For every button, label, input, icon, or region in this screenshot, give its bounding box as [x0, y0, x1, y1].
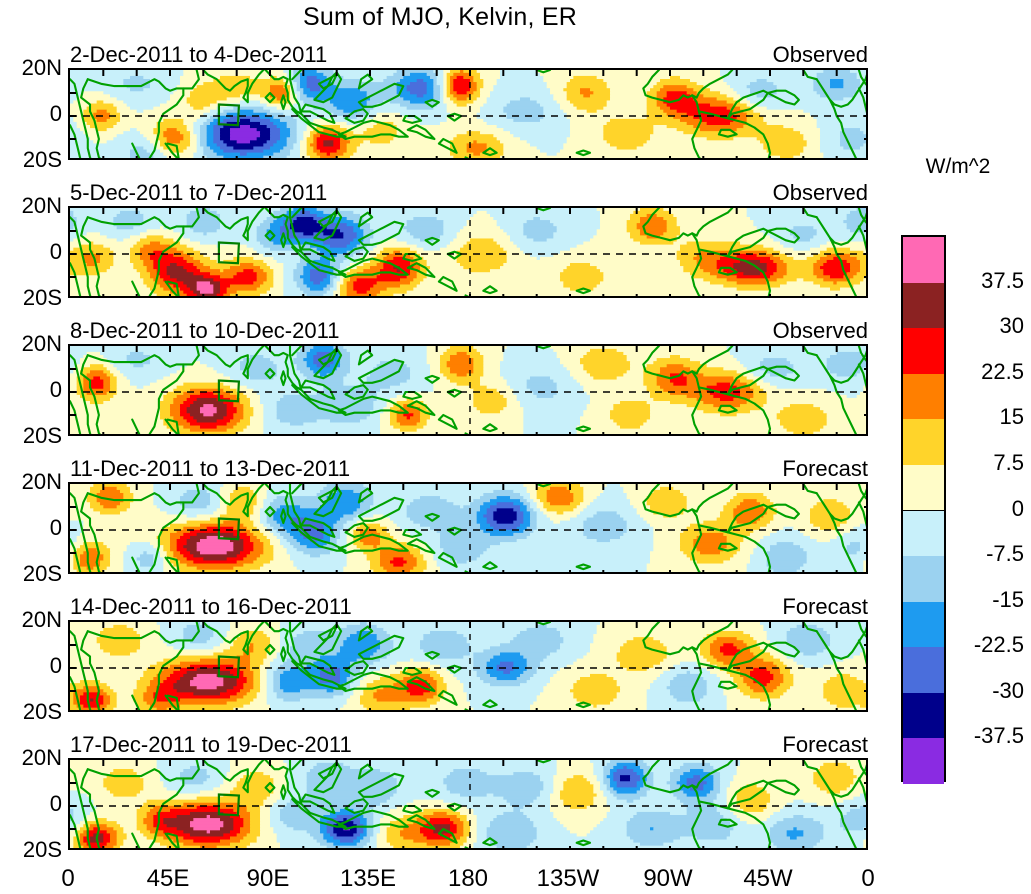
map-canvas-1 [68, 68, 868, 160]
colorbar-band-3 [903, 374, 944, 421]
x-tick-label: 135W [518, 864, 618, 894]
y-tick-label: 20S [23, 839, 62, 861]
x-tick-label: 0 [18, 864, 118, 894]
y-tick-label: 20S [23, 425, 62, 447]
panel-header-4: 11-Dec-2011 to 13-Dec-2011Forecast [68, 456, 868, 482]
x-tick-label: 45E [118, 864, 218, 894]
colorbar-band-9 [903, 647, 944, 694]
y-axis-labels-5: 20N020S [0, 620, 62, 712]
panel-header-1: 2-Dec-2011 to 4-Dec-2011Observed [68, 42, 868, 68]
x-tick-label: 180 [418, 864, 518, 894]
colorbar-tick-label: -37.5 [952, 725, 1024, 747]
anomaly-field [70, 760, 868, 850]
colorbar-units-label: W/m^2 [898, 155, 1018, 179]
colorbar-band-11 [903, 738, 944, 784]
colorbar-band-2 [903, 328, 944, 375]
colorbar-band-1 [903, 283, 944, 330]
panel-status-label: Observed [773, 42, 868, 68]
panel-status-label: Forecast [782, 594, 868, 620]
panel-header-5: 14-Dec-2011 to 16-Dec-2011Forecast [68, 594, 868, 620]
x-tick-label: 90W [618, 864, 718, 894]
panel-date-range: 5-Dec-2011 to 7-Dec-2011 [70, 180, 327, 206]
y-tick-label: 20N [22, 333, 62, 355]
colorbar-tick-label: -22.5 [952, 634, 1024, 656]
anomaly-field [70, 484, 868, 574]
panel-date-range: 11-Dec-2011 to 13-Dec-2011 [70, 456, 350, 482]
anomaly-field [70, 208, 868, 298]
y-axis-labels-3: 20N020S [0, 344, 62, 436]
y-axis-labels-4: 20N020S [0, 482, 62, 574]
y-tick-label: 20S [23, 149, 62, 171]
map-canvas-6 [68, 758, 868, 850]
y-tick-label: 20S [23, 287, 62, 309]
x-axis-labels: 045E90E135E180135W90W45W0 [0, 864, 1031, 894]
colorbar-tick-label: 7.5 [952, 452, 1024, 474]
y-tick-label: 20N [22, 471, 62, 493]
panel-header-6: 17-Dec-2011 to 19-Dec-2011Forecast [68, 732, 868, 758]
colorbar-tick-label: 22.5 [952, 361, 1024, 383]
x-tick-label: 0 [818, 864, 918, 894]
y-tick-label: 0 [50, 379, 62, 401]
panel-date-range: 14-Dec-2011 to 16-Dec-2011 [70, 594, 352, 620]
y-axis-labels-6: 20N020S [0, 758, 62, 850]
map-canvas-3 [68, 344, 868, 436]
y-tick-label: 20N [22, 57, 62, 79]
colorbar-tick-label: 30 [952, 315, 1024, 337]
panel-status-label: Observed [773, 180, 868, 206]
y-tick-label: 0 [50, 241, 62, 263]
panel-header-2: 5-Dec-2011 to 7-Dec-2011Observed [68, 180, 868, 206]
y-tick-label: 20N [22, 195, 62, 217]
y-tick-label: 0 [50, 517, 62, 539]
colorbar-tick-label: 15 [952, 406, 1024, 428]
page-title: Sum of MJO, Kelvin, ER [0, 2, 880, 32]
anomaly-field [70, 70, 868, 160]
panel-status-label: Observed [773, 318, 868, 344]
y-tick-label: 0 [50, 103, 62, 125]
y-tick-label: 0 [50, 655, 62, 677]
panel-date-range: 8-Dec-2011 to 10-Dec-2011 [70, 318, 339, 344]
y-tick-label: 20S [23, 701, 62, 723]
colorbar-band-10 [903, 693, 944, 740]
anomaly-field [70, 622, 868, 712]
colorbar-tick-label: -30 [952, 680, 1024, 702]
map-canvas-2 [68, 206, 868, 298]
y-axis-labels-2: 20N020S [0, 206, 62, 298]
colorbar-band-6 [903, 511, 944, 558]
anomaly-field [70, 346, 868, 436]
figure-root: Sum of MJO, Kelvin, ER 2-Dec-2011 to 4-D… [0, 0, 1031, 889]
colorbar-tick-label: -15 [952, 589, 1024, 611]
map-canvas-4 [68, 482, 868, 574]
colorbar [901, 235, 946, 782]
colorbar-band-4 [903, 419, 944, 466]
panel-status-label: Forecast [782, 456, 868, 482]
colorbar-band-0 [903, 237, 944, 284]
panel-header-3: 8-Dec-2011 to 10-Dec-2011Observed [68, 318, 868, 344]
x-tick-label: 135E [318, 864, 418, 894]
x-tick-label: 45W [718, 864, 818, 894]
colorbar-band-5 [903, 465, 944, 512]
y-tick-label: 20S [23, 563, 62, 585]
colorbar-band-8 [903, 602, 944, 649]
panel-date-range: 17-Dec-2011 to 19-Dec-2011 [70, 732, 352, 758]
map-canvas-5 [68, 620, 868, 712]
y-tick-label: 20N [22, 609, 62, 631]
colorbar-tick-label: -7.5 [952, 543, 1024, 565]
x-tick-label: 90E [218, 864, 318, 894]
y-axis-labels-1: 20N020S [0, 68, 62, 160]
y-tick-label: 20N [22, 747, 62, 769]
colorbar-tick-label: 37.5 [952, 270, 1024, 292]
panel-status-label: Forecast [782, 732, 868, 758]
colorbar-band-7 [903, 556, 944, 603]
panel-date-range: 2-Dec-2011 to 4-Dec-2011 [70, 42, 327, 68]
colorbar-tick-label: 0 [952, 498, 1024, 520]
y-tick-label: 0 [50, 793, 62, 815]
